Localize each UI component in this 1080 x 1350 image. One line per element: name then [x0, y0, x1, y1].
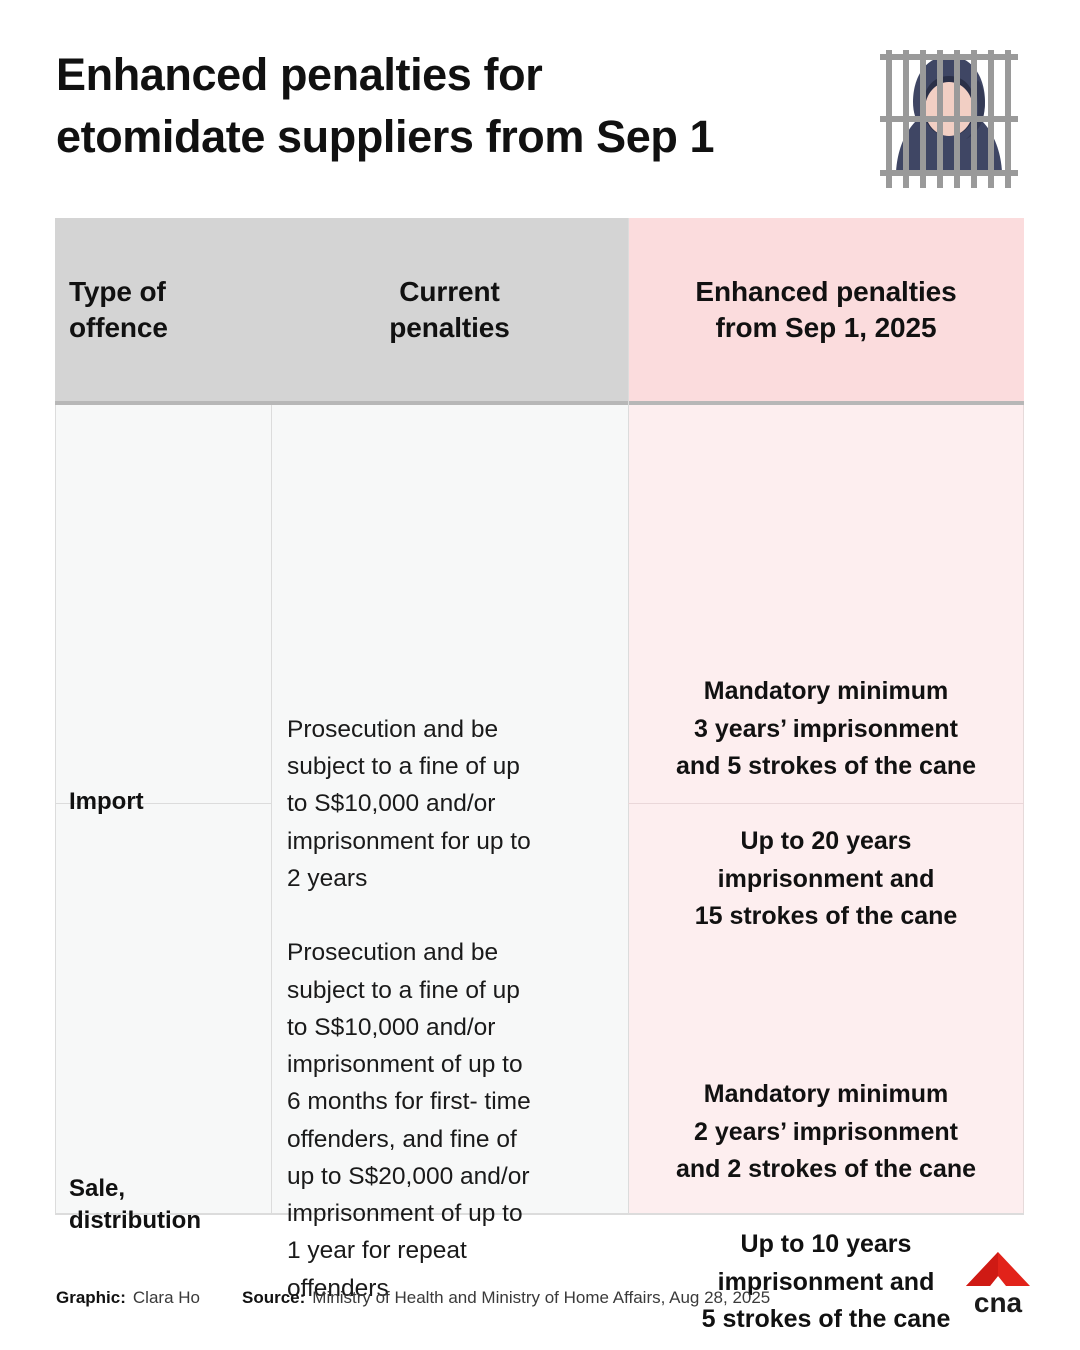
- graphic-value: Clara Ho: [133, 1288, 200, 1308]
- header-underline: [55, 401, 1024, 405]
- prisoner-behind-bars-icon: [874, 44, 1024, 194]
- table-column-offence: Type of offence: [55, 218, 271, 1214]
- table-row-offence-import: Import: [69, 786, 269, 818]
- footer-credits: Graphic: Clara Ho Source: Ministry of He…: [56, 1288, 956, 1308]
- table-row-offence-sale-distribution: Sale, distribution: [69, 1173, 269, 1238]
- column-divider-1: [271, 405, 272, 1214]
- column-header-enhanced-penalties: Enhanced penalties from Sep 1, 2025: [628, 218, 1024, 401]
- column-header-type-of-offence: Type of offence: [55, 218, 271, 401]
- column-header-current-penalties: Current penalties: [271, 218, 628, 401]
- infographic-page: Enhanced penalties for etomidate supplie…: [0, 0, 1080, 1350]
- column-divider-2: [628, 218, 629, 1214]
- source-label: Source:: [242, 1288, 305, 1308]
- graphic-credit: Graphic: Clara Ho: [56, 1288, 200, 1308]
- page-title: Enhanced penalties for etomidate supplie…: [56, 44, 856, 168]
- table-left-edge: [55, 405, 56, 1214]
- source-credit: Source: Ministry of Health and Ministry …: [242, 1288, 770, 1308]
- enhanced-penalties-import: Mandatory minimum 3 years’ imprisonment …: [630, 673, 1022, 936]
- source-value: Ministry of Health and Ministry of Home …: [312, 1288, 770, 1308]
- header: Enhanced penalties for etomidate supplie…: [56, 44, 1024, 194]
- cna-wordmark: cna: [974, 1287, 1023, 1316]
- penalties-table: Type of offence Current penalties Enhanc…: [55, 218, 1024, 1214]
- cna-logo: cna: [962, 1250, 1034, 1316]
- graphic-label: Graphic:: [56, 1288, 126, 1308]
- table-right-edge: [1023, 405, 1024, 1214]
- current-penalties-text: Prosecution and be subject to a fine of …: [287, 711, 617, 1307]
